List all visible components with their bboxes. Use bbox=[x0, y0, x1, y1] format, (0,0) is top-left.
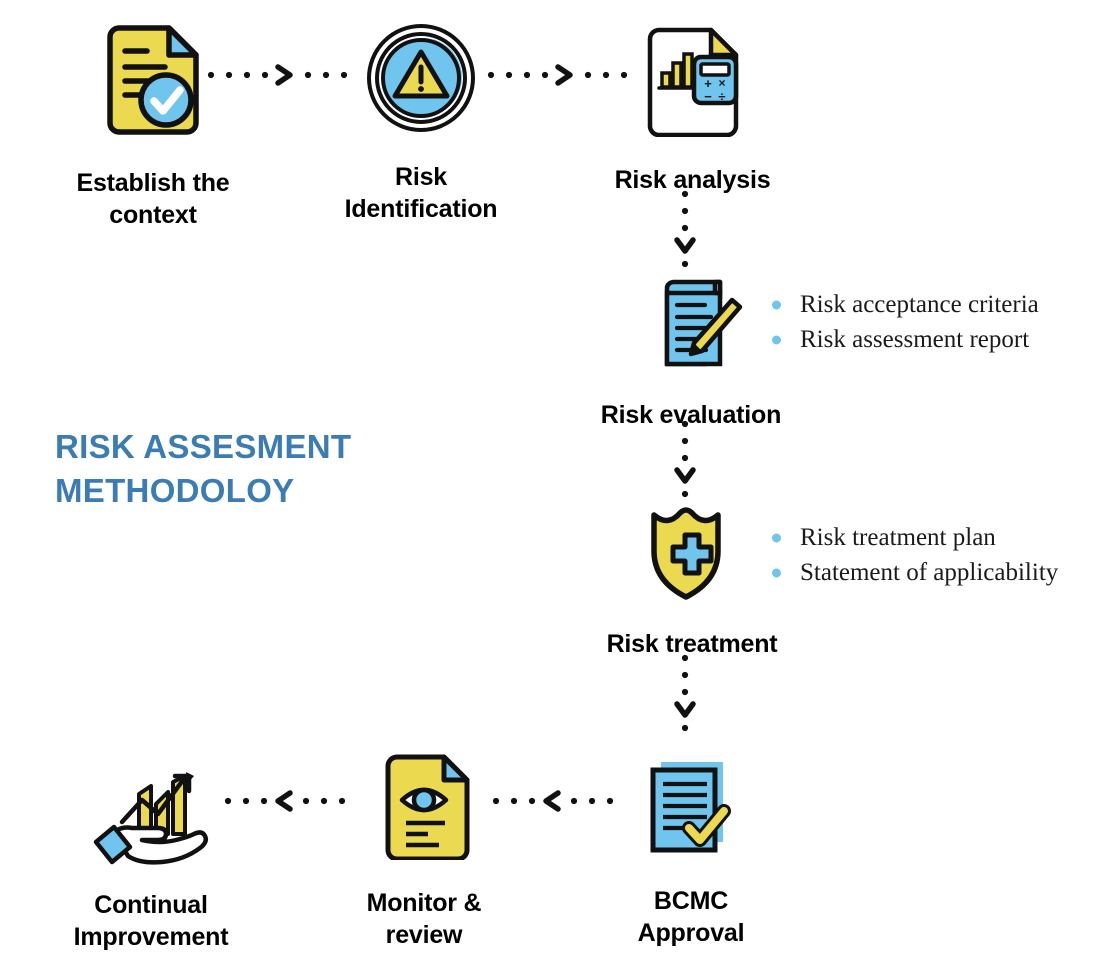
node-label: BCMC Approval bbox=[638, 885, 745, 949]
shield-plus-icon bbox=[642, 505, 742, 608]
node-continual-improvement[interactable]: Continual Improvement bbox=[60, 752, 242, 953]
connector-treatment-to-approval bbox=[672, 652, 698, 739]
warning-triangle-circle-icon bbox=[365, 22, 477, 139]
document-eye-icon bbox=[376, 752, 472, 865]
list-item: Risk assessment report bbox=[766, 323, 1039, 358]
node-label: Continual Improvement bbox=[74, 889, 229, 953]
list-item: Risk treatment plan bbox=[766, 521, 1058, 556]
document-checkmark-icon bbox=[639, 755, 743, 865]
hand-growth-chart-icon bbox=[86, 752, 216, 873]
node-risk-analysis[interactable]: + × − ÷ Risk analysis bbox=[600, 25, 785, 196]
risk-evaluation-outputs: Risk acceptance criteria Risk assessment… bbox=[766, 288, 1039, 357]
svg-text:−: − bbox=[704, 89, 712, 104]
page-title: RISK ASSESMENT METHODOLOY bbox=[55, 425, 351, 512]
document-check-icon bbox=[103, 25, 203, 145]
risk-assessment-diagram: RISK ASSESMENT METHODOLOY Establish the … bbox=[0, 0, 1108, 973]
connector-evaluation-to-treatment bbox=[672, 418, 698, 505]
svg-text:×: × bbox=[718, 76, 725, 90]
node-label: Risk Identification bbox=[345, 161, 498, 225]
svg-text:÷: ÷ bbox=[718, 89, 725, 104]
node-monitor-review[interactable]: Monitor & review bbox=[338, 752, 510, 951]
node-risk-treatment[interactable]: Risk treatment bbox=[594, 505, 790, 660]
list-item: Risk acceptance criteria bbox=[766, 288, 1039, 323]
node-label: Monitor & review bbox=[367, 887, 482, 951]
node-establish-the-context[interactable]: Establish the context bbox=[60, 25, 246, 231]
list-item: Statement of applicability bbox=[766, 556, 1058, 591]
connector-analysis-to-evaluation bbox=[672, 188, 698, 275]
document-pencil-icon bbox=[639, 272, 743, 377]
risk-treatment-outputs: Risk treatment plan Statement of applica… bbox=[766, 521, 1058, 590]
document-chart-calculator-icon: + × − ÷ bbox=[640, 25, 746, 142]
node-risk-identification[interactable]: Risk Identification bbox=[330, 22, 512, 225]
node-bcmc-approval[interactable]: BCMC Approval bbox=[600, 755, 782, 949]
node-risk-evaluation[interactable]: Risk evaluation bbox=[593, 272, 789, 431]
node-label: Establish the context bbox=[77, 167, 230, 231]
